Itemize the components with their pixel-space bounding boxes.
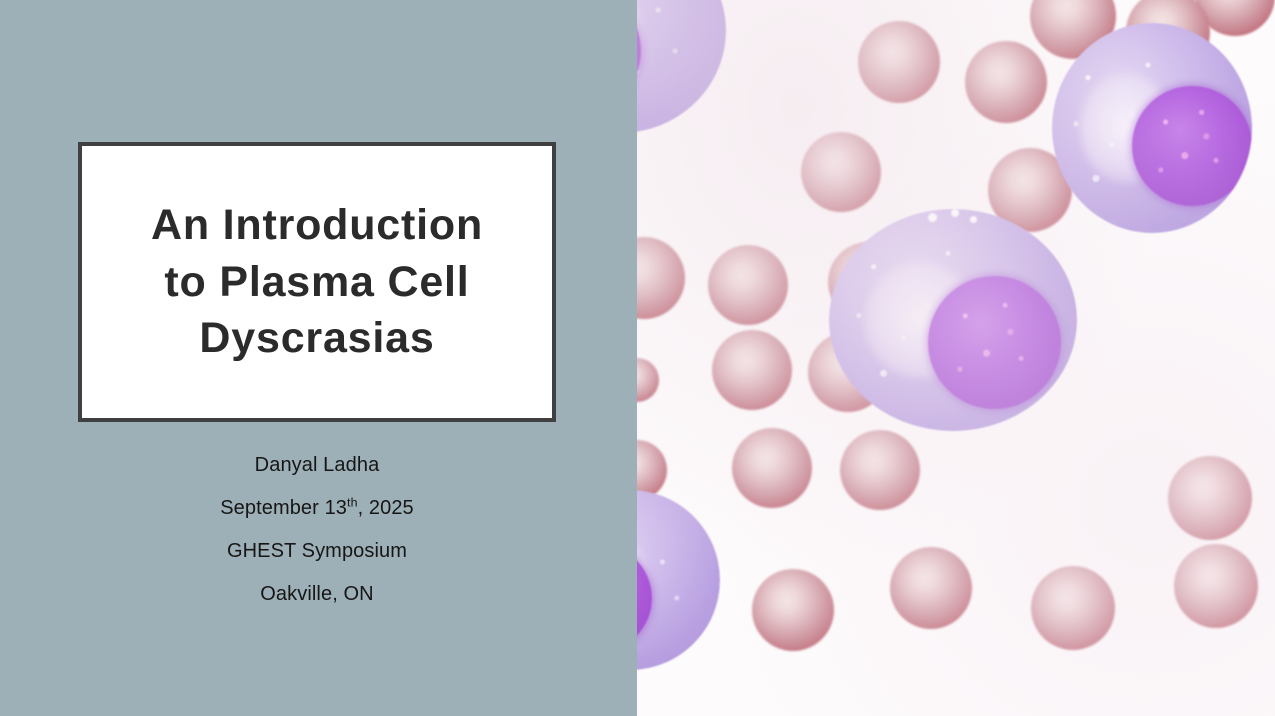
plasma-cell-cytoplasm <box>637 0 726 133</box>
red-blood-cell <box>890 547 972 629</box>
event-name: GHEST Symposium <box>227 540 407 562</box>
right-edge-plasma-cell <box>1052 23 1252 233</box>
date-year: , 2025 <box>358 497 414 519</box>
plasma-cell-cytoplasm <box>637 490 720 670</box>
red-blood-cell <box>1031 566 1115 650</box>
red-blood-cell <box>840 430 920 510</box>
presenter-name: Danyal Ladha <box>255 454 380 476</box>
title-box: An Introduction to Plasma Cell Dyscrasia… <box>78 142 556 422</box>
red-blood-cell <box>801 132 881 212</box>
date-ordinal-suffix: th <box>347 495 358 509</box>
bottom-left-plasma-cell <box>637 490 720 670</box>
cytoplasmic-vacuole <box>951 209 959 217</box>
subtitle-event: GHEST Symposium <box>78 541 556 561</box>
cytoplasmic-vacuole <box>970 216 977 223</box>
plasma-cell-nucleus <box>928 276 1061 409</box>
red-blood-cell <box>1168 456 1252 540</box>
red-blood-cell <box>732 428 812 508</box>
location-text: Oakville, ON <box>260 583 373 605</box>
red-blood-cell <box>1174 544 1258 628</box>
blood-smear-image <box>637 0 1275 716</box>
date-text: September 13 <box>220 497 347 519</box>
central-plasma-cell <box>829 209 1077 431</box>
red-blood-cell <box>708 245 788 325</box>
subtitle-presenter: Danyal Ladha <box>78 455 556 475</box>
red-blood-cell <box>637 358 659 402</box>
red-blood-cell <box>858 21 940 103</box>
red-blood-cell <box>712 330 792 410</box>
top-left-plasma-cell <box>637 0 726 133</box>
red-blood-cell <box>965 41 1047 123</box>
left-panel: An Introduction to Plasma Cell Dyscrasia… <box>0 0 637 716</box>
red-blood-cell <box>637 237 685 319</box>
page-title: An Introduction to Plasma Cell Dyscrasia… <box>137 197 497 367</box>
subtitle-date: September 13th, 2025 <box>78 498 556 518</box>
plasma-cell-nucleus <box>1132 86 1252 206</box>
subtitle-location: Oakville, ON <box>78 584 556 604</box>
title-slide: An Introduction to Plasma Cell Dyscrasia… <box>0 0 1275 716</box>
subtitle-block: Danyal Ladha September 13th, 2025 GHEST … <box>78 455 556 604</box>
red-blood-cell <box>752 569 834 651</box>
